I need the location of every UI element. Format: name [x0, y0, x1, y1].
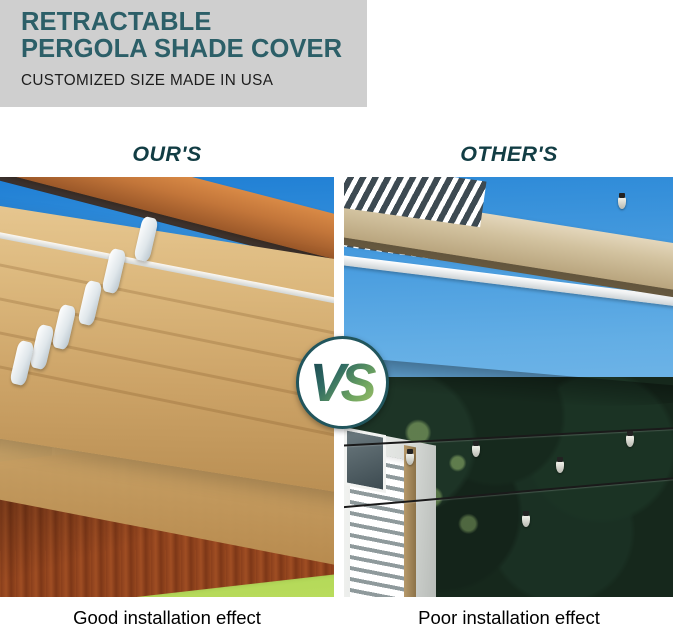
photo-others-scene	[344, 177, 673, 597]
column-title-ours: OUR'S	[0, 141, 334, 167]
column-title-others: OTHER'S	[344, 141, 674, 167]
header-subhead: CUSTOMIZED SIZE MADE IN USA	[21, 71, 367, 90]
vs-label: VS	[309, 356, 375, 410]
photo-others	[344, 177, 673, 597]
header-banner: RETRACTABLE PERGOLA SHADE COVER CUSTOMIZ…	[0, 0, 367, 107]
product-comparison-image: RETRACTABLE PERGOLA SHADE COVER CUSTOMIZ…	[0, 0, 679, 635]
headline-line-1: RETRACTABLE	[21, 9, 367, 36]
photo-ours	[0, 177, 334, 597]
caption-ours: Good installation effect	[0, 604, 334, 632]
vs-badge: VS	[296, 336, 389, 429]
caption-others: Poor installation effect	[344, 604, 674, 632]
photo-ours-scene	[0, 177, 334, 597]
headline-line-2: PERGOLA SHADE COVER	[21, 36, 367, 63]
